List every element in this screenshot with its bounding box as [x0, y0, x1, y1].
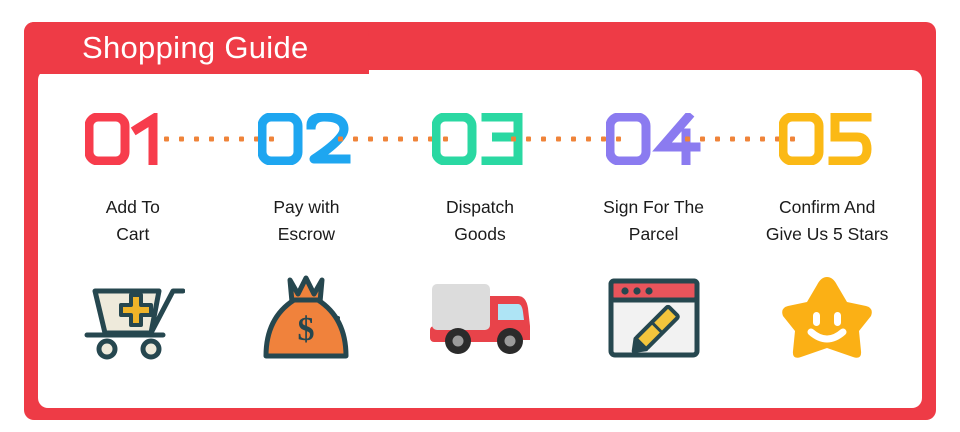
step-3-number-row — [393, 108, 567, 170]
step-2-label-line1: Pay with — [273, 197, 339, 217]
sign-document-icon — [567, 270, 741, 366]
step-1-label-line1: Add To — [106, 197, 160, 217]
step-5-label-line1: Confirm And — [779, 197, 875, 217]
step-5-label-line2: Give Us 5 Stars — [740, 221, 914, 248]
step-3: Dispatch Goods — [393, 108, 567, 398]
step-4: Sign For The Parcel — [567, 108, 741, 398]
step-5: Confirm And Give Us 5 Stars — [740, 108, 914, 398]
step-3-label-line1: Dispatch — [446, 197, 514, 217]
steps-row: Add To Cart — [46, 108, 914, 398]
step-4-number-row — [567, 108, 741, 170]
step-1-label-line2: Cart — [46, 221, 220, 248]
step-5-number-row — [740, 108, 914, 170]
step-2-number-row — [220, 108, 394, 170]
step-5-number — [779, 113, 875, 165]
step-2: Pay with Escrow $ — [220, 108, 394, 398]
step-4-label: Sign For The Parcel — [567, 194, 741, 248]
step-2-label-line2: Escrow — [220, 221, 394, 248]
shopping-cart-icon — [46, 270, 220, 366]
step-2-label: Pay with Escrow — [220, 194, 394, 248]
smiling-star-icon — [740, 270, 914, 366]
svg-text:$: $ — [298, 311, 315, 348]
money-bag-icon: $ — [220, 270, 394, 366]
step-4-label-line1: Sign For The — [603, 197, 704, 217]
page-title: Shopping Guide — [82, 26, 362, 70]
step-1-number-row — [46, 108, 220, 170]
step-3-label: Dispatch Goods — [393, 194, 567, 248]
shopping-guide-banner: Shopping Guide Add To Cart — [0, 0, 960, 432]
step-1-label: Add To Cart — [46, 194, 220, 248]
step-4-label-line2: Parcel — [567, 221, 741, 248]
step-1: Add To Cart — [46, 108, 220, 398]
delivery-truck-icon — [393, 270, 567, 366]
step-5-label: Confirm And Give Us 5 Stars — [740, 194, 914, 248]
step-3-label-line2: Goods — [393, 221, 567, 248]
